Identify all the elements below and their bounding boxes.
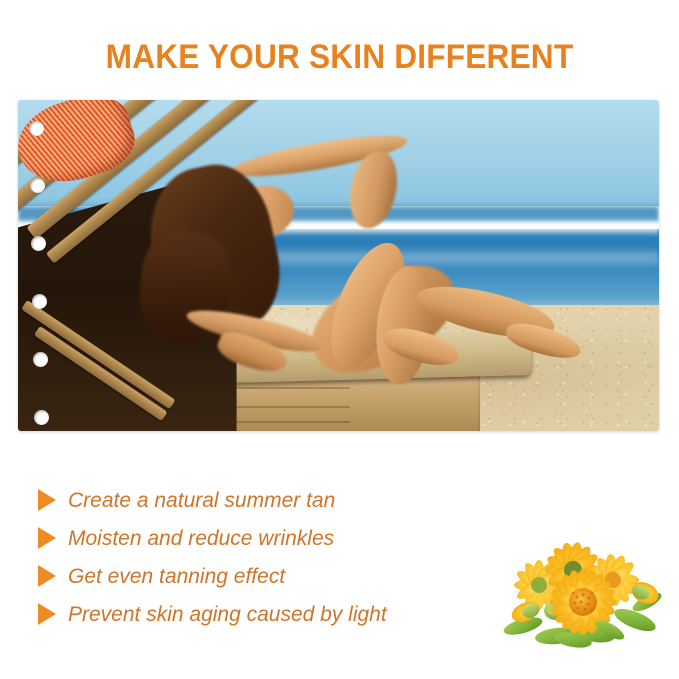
benefits-list: Create a natural summer tan Moisten and … <box>38 481 508 633</box>
list-item: Create a natural summer tan <box>38 481 508 519</box>
binding-hole <box>33 352 48 367</box>
list-item: Get even tanning effect <box>38 557 508 595</box>
benefit-label: Moisten and reduce wrinkles <box>68 528 334 549</box>
benefit-label: Create a natural summer tan <box>68 490 335 511</box>
binding-hole <box>30 178 45 193</box>
calendula-flowers-image <box>495 530 675 655</box>
triangle-bullet-icon <box>38 565 56 587</box>
list-item: Moisten and reduce wrinkles <box>38 519 508 557</box>
triangle-bullet-icon <box>38 527 56 549</box>
benefit-label: Prevent skin aging caused by light <box>68 604 387 625</box>
binding-hole <box>31 236 46 251</box>
banner-page: MAKE YOUR SKIN DIFFERENT <box>0 0 679 679</box>
binding-hole <box>32 294 47 309</box>
hero-photo <box>18 100 659 431</box>
benefit-label: Get even tanning effect <box>68 566 285 587</box>
page-title: MAKE YOUR SKIN DIFFERENT <box>24 38 655 77</box>
binding-hole <box>34 410 49 425</box>
list-item: Prevent skin aging caused by light <box>38 595 508 633</box>
triangle-bullet-icon <box>38 489 56 511</box>
binding-hole <box>29 121 44 136</box>
triangle-bullet-icon <box>38 603 56 625</box>
